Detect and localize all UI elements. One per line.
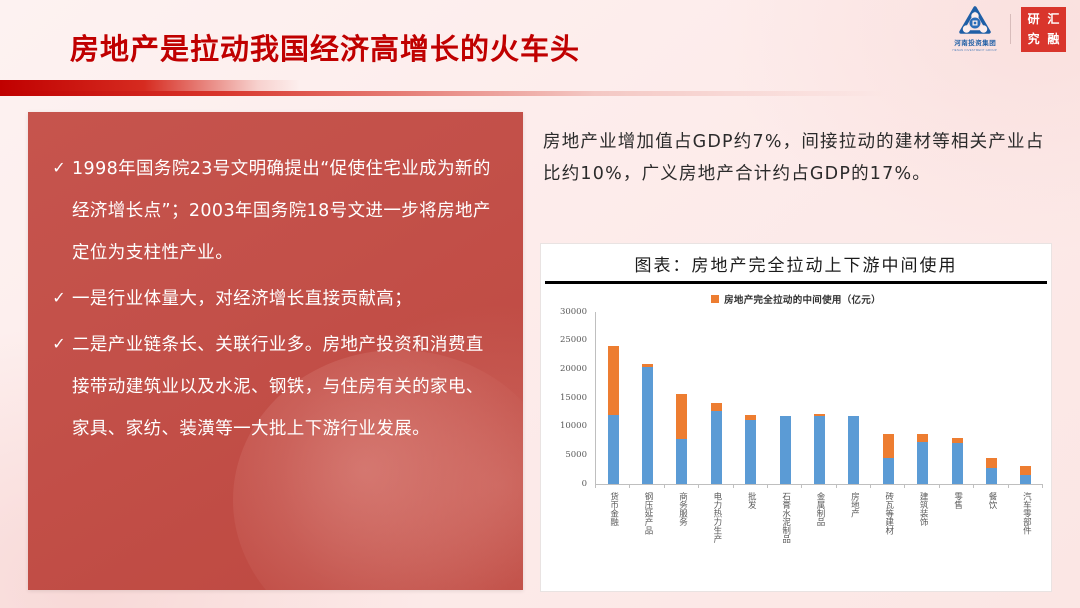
x-label-slot: 电力热力生产: [699, 492, 733, 570]
slide-root: 房地产是拉动我国经济高增长的火车头 河南投资集团 HENAN INVESTMEN…: [0, 0, 1080, 608]
x-tick-mark: [698, 484, 699, 488]
seal-char-1: 研: [1025, 10, 1043, 28]
x-tick-mark: [870, 484, 871, 488]
x-label-slot: 零售: [940, 492, 974, 570]
x-tick-label: 零售: [953, 492, 962, 570]
x-tick-label: 砖瓦等建材: [884, 492, 893, 570]
seal-char-3: 究: [1025, 30, 1043, 48]
bar-segment-bottom: [780, 416, 791, 484]
x-axis-ticks: [595, 484, 1043, 488]
x-label-slot: 房地产: [837, 492, 871, 570]
x-tick-mark: [1042, 484, 1043, 488]
y-tick-label: 25000: [560, 335, 587, 345]
bar-segment-top: [917, 434, 928, 442]
x-label-slot: 钢压延产品: [630, 492, 664, 570]
bar-group[interactable]: [734, 312, 768, 484]
x-label-slot: 金属制品: [802, 492, 836, 570]
title-rule-thick: [0, 80, 300, 91]
x-label-slot: 餐饮: [974, 492, 1008, 570]
seal-char-4: 融: [1044, 30, 1062, 48]
bar-segment-bottom: [711, 411, 722, 483]
bullet-text: 二是产业链条长、关联行业多。房地产投资和消费直接带动建筑业以及水泥、钢铁，与住房…: [72, 324, 497, 450]
x-tick-mark: [973, 484, 974, 488]
x-tick-mark: [733, 484, 734, 488]
company-logo: 河南投资集团 HENAN INVESTMENT GROUP: [950, 6, 1000, 52]
x-label-slot: 商务服务: [665, 492, 699, 570]
chart-plot-area: 050001000015000200002500030000 货币金融钢压延产品…: [549, 312, 1043, 512]
x-tick-mark: [767, 484, 768, 488]
x-label-slot: 货币金融: [596, 492, 630, 570]
bar-segment-bottom: [986, 468, 997, 483]
bar-group[interactable]: [768, 312, 802, 484]
x-tick-mark: [904, 484, 905, 488]
triangle-emblem-icon: [959, 6, 991, 36]
bar-group[interactable]: [1009, 312, 1043, 484]
company-name-en: HENAN INVESTMENT GROUP: [953, 48, 998, 52]
x-tick-mark: [801, 484, 802, 488]
x-tick-label: 汽车零部件: [1021, 492, 1030, 570]
y-tick-label: 5000: [565, 450, 587, 460]
bar-segment-bottom: [642, 367, 653, 484]
bar-group[interactable]: [940, 312, 974, 484]
page-title: 房地产是拉动我国经济高增长的火车头: [70, 26, 580, 68]
list-item: ✓ 一是行业体量大，对经济增长直接贡献高；: [46, 278, 497, 320]
check-icon: ✓: [46, 278, 72, 320]
x-tick-label: 货币金融: [609, 492, 618, 570]
bullet-list: ✓ 1998年国务院23号文明确提出“促使住宅业成为新的经济增长点”；2003年…: [28, 112, 523, 450]
y-tick-label: 15000: [560, 393, 587, 403]
bullet-text: 一是行业体量大，对经济增长直接贡献高；: [72, 278, 412, 320]
logo-area: 河南投资集团 HENAN INVESTMENT GROUP 研 汇 究 融: [950, 6, 1066, 52]
summary-text: 房地产业增加值占GDP约7%，间接拉动的建材等相关产业占比约10%，广义房地产合…: [543, 126, 1048, 190]
x-tick-label: 建筑装饰: [918, 492, 927, 570]
bar-group[interactable]: [906, 312, 940, 484]
x-tick-label: 商务服务: [678, 492, 687, 570]
bar-group[interactable]: [871, 312, 905, 484]
chart-title-rule: [545, 281, 1047, 284]
bullet-text: 1998年国务院23号文明确提出“促使住宅业成为新的经济增长点”；2003年国务…: [72, 148, 497, 274]
seal-char-2: 汇: [1044, 10, 1062, 28]
list-item: ✓ 1998年国务院23号文明确提出“促使住宅业成为新的经济增长点”；2003年…: [46, 148, 497, 274]
x-tick-mark: [1008, 484, 1009, 488]
bar-segment-bottom: [1020, 475, 1031, 483]
x-tick-mark: [836, 484, 837, 488]
bar-segment-top: [883, 434, 894, 458]
list-item: ✓ 二是产业链条长、关联行业多。房地产投资和消费直接带动建筑业以及水泥、钢铁，与…: [46, 324, 497, 450]
y-tick-label: 30000: [560, 307, 587, 317]
bar-segment-top: [986, 458, 997, 468]
x-tick-label: 批发: [746, 492, 755, 570]
bar-segment-bottom: [952, 443, 963, 483]
left-content-panel: ✓ 1998年国务院23号文明确提出“促使住宅业成为新的经济增长点”；2003年…: [28, 112, 523, 590]
company-name-cn: 河南投资集团: [954, 37, 996, 47]
bar-group[interactable]: [974, 312, 1008, 484]
x-tick-label: 石膏水泥制品: [781, 492, 790, 570]
chart-legend: 房地产完全拉动的中间使用（亿元）: [541, 292, 1051, 306]
bar-segment-bottom: [848, 416, 859, 484]
bar-group[interactable]: [665, 312, 699, 484]
x-tick-label: 房地产: [849, 492, 858, 570]
bar-segment-bottom: [814, 416, 825, 484]
y-tick-label: 0: [582, 479, 587, 489]
x-label-slot: 砖瓦等建材: [871, 492, 905, 570]
bar-group[interactable]: [802, 312, 836, 484]
x-label-slot: 建筑装饰: [906, 492, 940, 570]
check-icon: ✓: [46, 324, 72, 366]
bar-segment-bottom: [676, 439, 687, 484]
x-tick-label: 餐饮: [987, 492, 996, 570]
check-icon: ✓: [46, 148, 72, 190]
bar-group[interactable]: [699, 312, 733, 484]
bar-segment-bottom: [608, 415, 619, 484]
x-tick-label: 电力热力生产: [712, 492, 721, 570]
x-tick-label: 钢压延产品: [643, 492, 652, 570]
bar-group[interactable]: [596, 312, 630, 484]
y-tick-label: 20000: [560, 364, 587, 374]
y-tick-label: 10000: [560, 421, 587, 431]
title-rule-thin: [0, 91, 1080, 96]
bar-segment-top: [1020, 466, 1031, 475]
bar-group[interactable]: [630, 312, 664, 484]
x-label-slot: 石膏水泥制品: [768, 492, 802, 570]
x-tick-mark: [595, 484, 596, 488]
bar-segment-bottom: [917, 442, 928, 483]
x-tick-label: 金属制品: [815, 492, 824, 570]
x-axis-labels: 货币金融钢压延产品商务服务电力热力生产批发石膏水泥制品金属制品房地产砖瓦等建材建…: [596, 492, 1043, 570]
chart-title: 图表：房地产完全拉动上下游中间使用: [541, 244, 1051, 281]
bar-segment-bottom: [883, 458, 894, 484]
x-label-slot: 批发: [734, 492, 768, 570]
bar-series-group: [596, 312, 1043, 484]
y-axis-labels: 050001000015000200002500030000: [549, 312, 591, 484]
x-tick-mark: [939, 484, 940, 488]
chart-card: 图表：房地产完全拉动上下游中间使用 房地产完全拉动的中间使用（亿元） 05000…: [540, 243, 1052, 592]
legend-label: 房地产完全拉动的中间使用（亿元）: [724, 292, 881, 306]
bar-segment-top: [711, 403, 722, 412]
bar-group[interactable]: [837, 312, 871, 484]
logo-divider: [1010, 14, 1011, 44]
legend-swatch-icon: [711, 295, 719, 303]
x-tick-mark: [664, 484, 665, 488]
x-tick-mark: [629, 484, 630, 488]
x-label-slot: 汽车零部件: [1009, 492, 1043, 570]
bar-segment-top: [676, 394, 687, 439]
bar-segment-top: [608, 346, 619, 415]
research-seal: 研 汇 究 融: [1021, 7, 1066, 52]
bar-segment-bottom: [745, 420, 756, 484]
